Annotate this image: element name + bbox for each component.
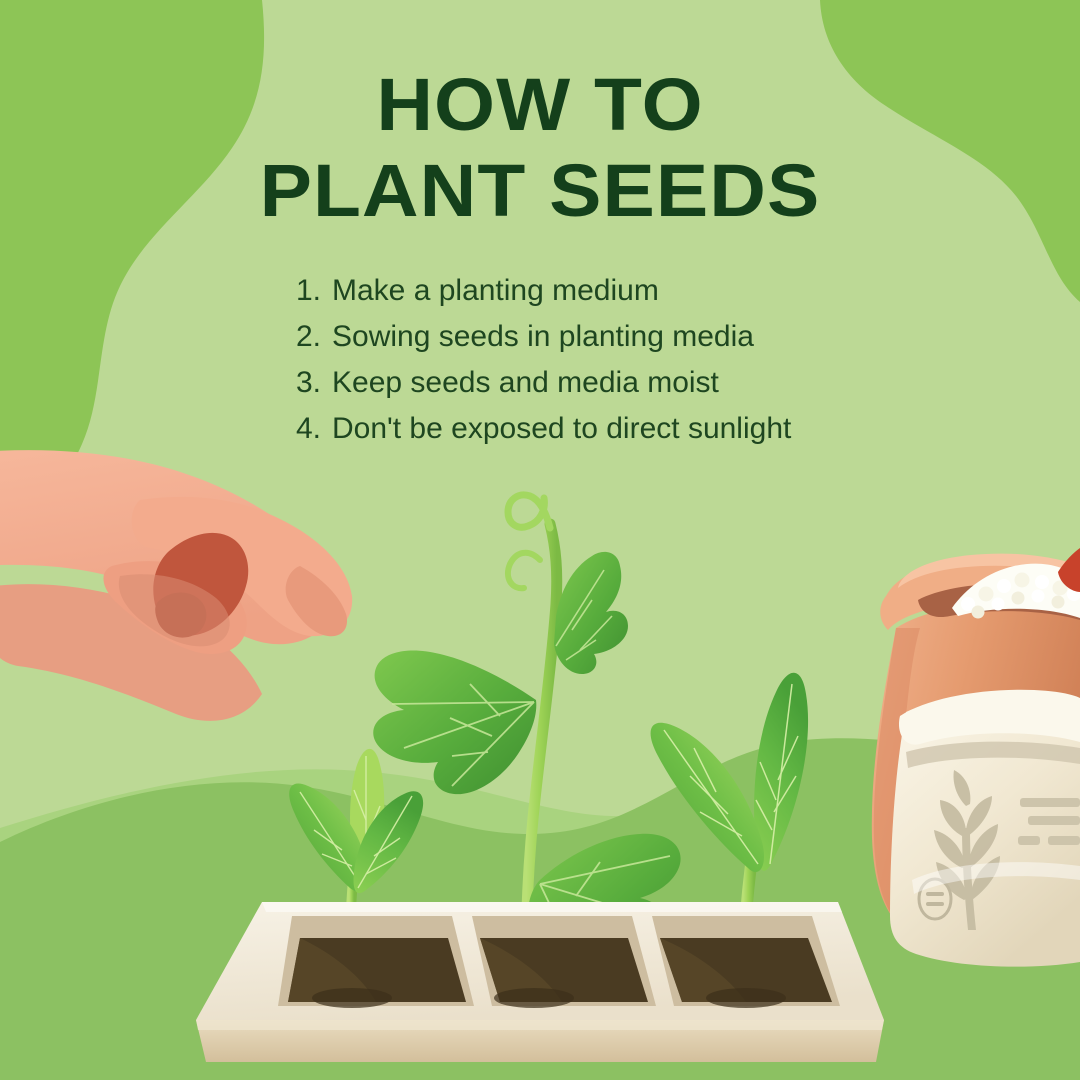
seed-pile	[952, 564, 1080, 619]
leaf-vine-lower	[528, 834, 681, 976]
tray-cell-2	[472, 916, 656, 1008]
list-item: 1. Make a planting medium	[296, 268, 936, 314]
step-text: Don't be exposed to direct sunlight	[332, 406, 791, 452]
packet-stamp	[919, 879, 951, 919]
title-line-2: PLANT SEEDS	[0, 148, 1080, 234]
list-item: 2. Sowing seeds in planting media	[296, 314, 936, 360]
step-text: Sowing seeds in planting media	[332, 314, 754, 360]
steps-list: 1. Make a planting medium 2. Sowing seed…	[296, 268, 936, 452]
step-number: 2.	[296, 314, 332, 360]
vine-plant-center	[373, 495, 680, 1000]
leaf-vine-upper	[554, 552, 628, 674]
step-text: Keep seeds and media moist	[332, 360, 719, 406]
hand-pinching-seed	[0, 450, 352, 721]
seedling-left	[289, 749, 423, 1012]
tray-cell-3	[652, 916, 840, 1008]
packet-stripes	[1018, 798, 1080, 845]
seedling-tray	[196, 902, 884, 1062]
step-number: 1.	[296, 268, 332, 314]
wheat-motif	[934, 770, 1000, 930]
seed-packet	[890, 690, 1080, 967]
list-item: 4. Don't be exposed to direct sunlight	[296, 406, 936, 452]
seed-sack	[872, 548, 1080, 948]
page-title: HOW TO PLANT SEEDS	[0, 62, 1080, 234]
hill-front	[0, 738, 1080, 1080]
infographic-poster: HOW TO PLANT SEEDS 1. Make a planting me…	[0, 0, 1080, 1080]
step-number: 4.	[296, 406, 332, 452]
tray-cell-1	[278, 916, 474, 1008]
scoop	[1058, 548, 1080, 592]
hill-back	[0, 716, 1080, 1080]
leaf-vine-left	[373, 650, 536, 794]
seedling-right	[651, 673, 809, 1014]
step-text: Make a planting medium	[332, 268, 659, 314]
title-line-1: HOW TO	[0, 62, 1080, 148]
list-item: 3. Keep seeds and media moist	[296, 360, 936, 406]
seed-in-hand	[153, 533, 248, 636]
step-number: 3.	[296, 360, 332, 406]
